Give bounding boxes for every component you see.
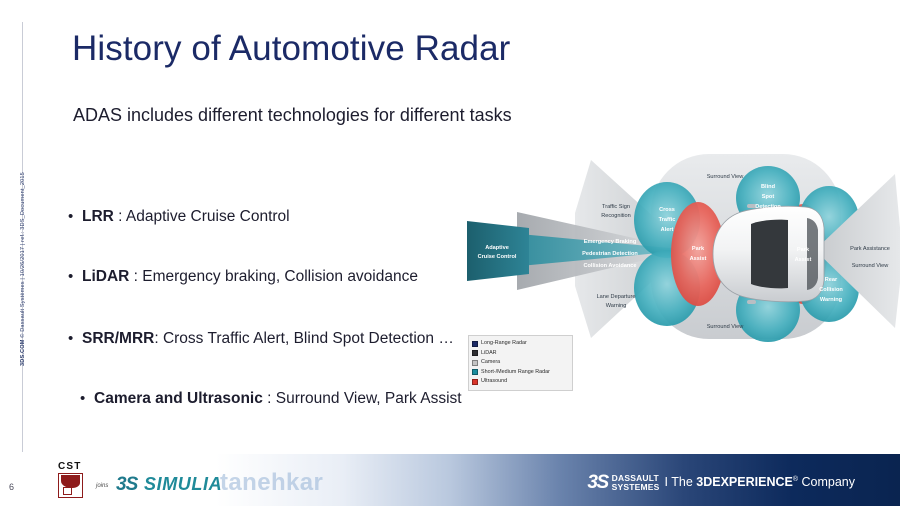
label-surround-view-right: Surround View xyxy=(852,263,890,269)
bullet-text: Camera and Ultrasonic : Surround View, P… xyxy=(94,390,462,408)
legend-swatch-ultrasound xyxy=(472,379,478,385)
dassault-systemes-logo: 3S DASSAULT SYSTEMES I The 3DEXPERIENCE®… xyxy=(587,473,855,492)
tagline-prefix: I The xyxy=(665,475,697,489)
dassault-wordmark-line2: SYSTEMES xyxy=(612,482,660,492)
legend-swatch-camera xyxy=(472,360,478,366)
bullet-rest: : Cross Traffic Alert, Blind Spot Detect… xyxy=(154,330,454,347)
side-note-detail: © Dassault Systèmes | 10/26/2017 | ref.:… xyxy=(20,172,26,338)
bullet-lead: LRR xyxy=(82,208,114,225)
label-traffic-sign-line2: Recognition xyxy=(601,213,631,219)
bullet-marker-icon: • xyxy=(68,331,82,346)
bullet-marker-icon: • xyxy=(68,269,82,284)
bullet-text: SRR/MRR: Cross Traffic Alert, Blind Spot… xyxy=(82,330,454,348)
diagram-legend: Long-Range Radar LiDAR Camera Short-/Med… xyxy=(468,335,573,391)
page-subtitle: ADAS includes different technologies for… xyxy=(73,105,512,126)
legend-swatch-short-medium-range-radar xyxy=(472,369,478,375)
bullet-text: LRR : Adaptive Cruise Control xyxy=(82,208,290,226)
slide-footer: 6 CST joins 3S SIMULIA tanehkar 3S DASSA… xyxy=(0,454,900,506)
legend-label: Long-Range Radar xyxy=(481,339,527,348)
cst-wordmark: CST xyxy=(58,462,82,472)
label-rear-collision-line3: Warning xyxy=(820,297,843,303)
bullet-rest: : Adaptive Cruise Control xyxy=(114,208,290,225)
dassault-mark-icon: 3S xyxy=(587,473,607,492)
label-adaptive-cruise-control-line2: Cruise Control xyxy=(478,254,517,260)
page-title: History of Automotive Radar xyxy=(72,29,510,69)
label-adaptive-cruise-control-line1: Adaptive xyxy=(485,245,509,251)
label-emergency-braking: Emergency Braking xyxy=(584,239,637,245)
list-item: • SRR/MRR: Cross Traffic Alert, Blind Sp… xyxy=(68,330,454,348)
label-rear-collision-line2: Collision xyxy=(819,287,843,293)
legend-item: LiDAR xyxy=(472,349,568,358)
tagline-suffix: Company xyxy=(798,475,855,489)
side-source-note: 3DS.COM © Dassault Systèmes | 10/26/2017… xyxy=(20,136,26,366)
list-item: • LiDAR : Emergency braking, Collision a… xyxy=(68,268,418,286)
label-lane-departure-line2: Warning xyxy=(606,303,627,309)
bullet-marker-icon: • xyxy=(80,391,94,406)
label-pedestrian-detection: Pedestrian Detection xyxy=(582,251,638,257)
label-cross-traffic-line1: Cross xyxy=(659,207,675,213)
legend-label: LiDAR xyxy=(481,349,497,358)
label-park-assist-front-line1: Park xyxy=(692,246,705,252)
legend-swatch-lidar xyxy=(472,350,478,356)
label-surround-view-bottom: Surround View xyxy=(707,324,745,330)
bullet-rest: : Emergency braking, Collision avoidance xyxy=(129,268,418,285)
legend-label: Short-/Medium Range Radar xyxy=(481,368,550,377)
bullet-lead: LiDAR xyxy=(82,268,129,285)
label-collision-avoidance: Collision Avoidance xyxy=(583,263,636,269)
label-cross-traffic-line3: Alert xyxy=(661,227,674,233)
legend-label: Camera xyxy=(481,358,500,367)
side-note-brand: 3DS.COM xyxy=(20,339,26,366)
legend-item: Short-/Medium Range Radar xyxy=(472,368,568,377)
simulia-wordmark: SIMULIA xyxy=(144,475,222,493)
label-park-assist-rear-line1: Park xyxy=(797,247,810,253)
label-park-assist-rear-line2: Assist xyxy=(795,257,812,263)
bullet-lead: SRR/MRR xyxy=(82,330,154,347)
adaptive-cruise-control-box xyxy=(467,221,529,281)
bullet-marker-icon: • xyxy=(68,209,82,224)
dassault-tagline: I The 3DEXPERIENCE® Company xyxy=(665,476,855,489)
legend-swatch-long-range-radar xyxy=(472,341,478,347)
legend-item: Long-Range Radar xyxy=(472,339,568,348)
simulia-logo-icon: 3S xyxy=(116,475,137,494)
watermark-text: tanehkar xyxy=(220,471,323,495)
label-blind-spot-line3: Detection xyxy=(755,204,781,210)
label-rear-collision-line1: Rear xyxy=(825,277,838,283)
list-item: • Camera and Ultrasonic : Surround View,… xyxy=(80,390,462,408)
label-blind-spot-line1: Blind xyxy=(761,184,776,190)
list-item: • LRR : Adaptive Cruise Control xyxy=(68,208,290,226)
page-number: 6 xyxy=(9,482,14,492)
label-blind-spot-line2: Spot xyxy=(762,194,775,200)
car-top-view xyxy=(713,204,824,304)
label-park-assist-front-line2: Assist xyxy=(690,256,707,262)
tagline-brand: 3DEXPERIENCE xyxy=(696,475,793,489)
dassault-wordmark: DASSAULT SYSTEMES xyxy=(612,474,660,491)
label-traffic-sign-line1: Traffic Sign xyxy=(602,204,630,210)
cst-logo-icon xyxy=(58,473,83,498)
bullet-rest: : Surround View, Park Assist xyxy=(263,390,462,407)
label-park-assistance: Park Assistance xyxy=(850,246,890,252)
label-cross-traffic-line2: Traffic xyxy=(659,217,676,223)
slide: 3DS.COM © Dassault Systèmes | 10/26/2017… xyxy=(0,0,900,506)
label-surround-view-top: Surround View xyxy=(707,174,745,180)
legend-label: Ultrasound xyxy=(481,377,507,386)
cst-square-shape xyxy=(63,487,72,495)
legend-item: Camera xyxy=(472,358,568,367)
bullet-lead: Camera and Ultrasonic xyxy=(94,390,263,407)
legend-item: Ultrasound xyxy=(472,377,568,386)
label-lane-departure-line1: Lane Departure xyxy=(597,294,636,300)
bullet-text: LiDAR : Emergency braking, Collision avo… xyxy=(82,268,418,286)
joins-label: joins xyxy=(96,483,108,489)
